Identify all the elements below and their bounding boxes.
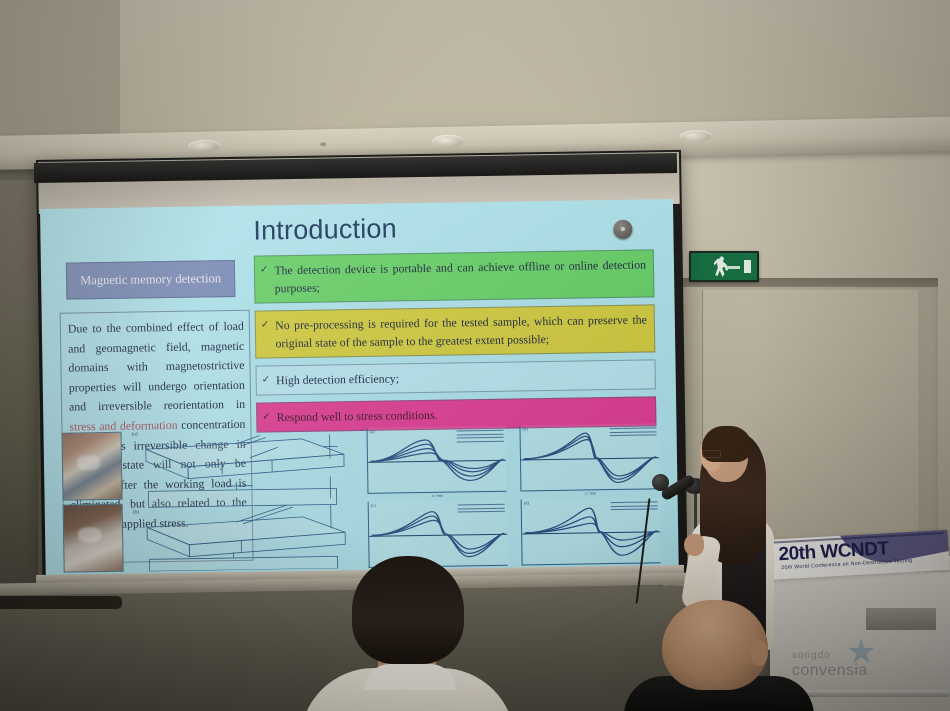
beam-screw <box>320 142 326 146</box>
magnetic-memory-detection-label: Magnetic memory detection <box>66 260 236 300</box>
bullet-item: ✓ High detection efficiency; <box>255 359 655 395</box>
bullet-text: High detection efficiency; <box>276 369 399 389</box>
ceiling-light-icon <box>680 130 712 144</box>
figure-strip: (a) <box>62 423 661 572</box>
paragraph-part-1: Due to the combined effect of load and g… <box>68 319 245 414</box>
presenter-hand <box>684 534 704 556</box>
specimen-diagrams: (a) <box>132 428 359 572</box>
bullet-text: Respond well to stress conditions. <box>277 406 438 427</box>
plot-curves <box>520 423 659 490</box>
probe-photo-bottom <box>63 504 124 573</box>
bullet-item: ✓ No pre-processing is required for the … <box>255 304 656 358</box>
plot-a: (a) x / mm <box>366 426 506 494</box>
audience-member-right <box>624 600 814 711</box>
ceiling-light-icon <box>188 139 220 153</box>
door-icon <box>744 260 751 273</box>
plot-curves <box>522 497 661 564</box>
plot-curves <box>367 426 506 493</box>
plot-x-label: x / mm <box>521 489 659 497</box>
conference-room-photo: Introduction ● Magnetic memory detection… <box>0 0 950 711</box>
diagram-label-a: (a) <box>132 431 138 437</box>
bullet-text: The detection device is portable and can… <box>274 255 646 297</box>
wall-dark-strip <box>0 596 122 609</box>
glasses-icon <box>702 450 721 458</box>
diagram-svg <box>132 428 359 572</box>
left-wall-lower <box>0 180 38 600</box>
exit-sign <box>689 251 759 282</box>
plot-b: (b) x / mm <box>519 423 659 491</box>
podium-shelf <box>866 608 936 630</box>
arrow-icon <box>726 266 740 269</box>
microphone-head <box>652 474 669 491</box>
photo-glint <box>78 528 101 543</box>
presentation-slide: Introduction ● Magnetic memory detection… <box>40 199 679 579</box>
probe-photo-top <box>62 432 123 501</box>
bullet-item: ✓ The detection device is portable and c… <box>254 249 655 303</box>
slide-badge[interactable]: ● <box>613 220 632 239</box>
audience-collar <box>364 664 456 690</box>
photo-glint <box>77 456 100 471</box>
bullet-list: ✓ The detection device is portable and c… <box>254 249 657 439</box>
result-plots: (a) x / mm (b) <box>366 423 660 568</box>
audience-ear <box>750 640 768 666</box>
check-icon: ✓ <box>260 261 269 278</box>
check-icon: ✓ <box>261 316 270 333</box>
plot-x-label: x / mm <box>369 492 507 500</box>
bullet-text: No pre-processing is required for the te… <box>275 310 647 352</box>
check-icon: ✓ <box>262 371 271 388</box>
diagram-label-b: (b) <box>133 509 140 515</box>
check-icon: ✓ <box>262 408 271 425</box>
audience-head <box>352 556 464 664</box>
page-title: Introduction <box>253 213 397 246</box>
audience-member-front <box>300 556 515 711</box>
ceiling-light-icon <box>432 134 464 148</box>
plot-d: (d) x / mm <box>521 497 661 565</box>
